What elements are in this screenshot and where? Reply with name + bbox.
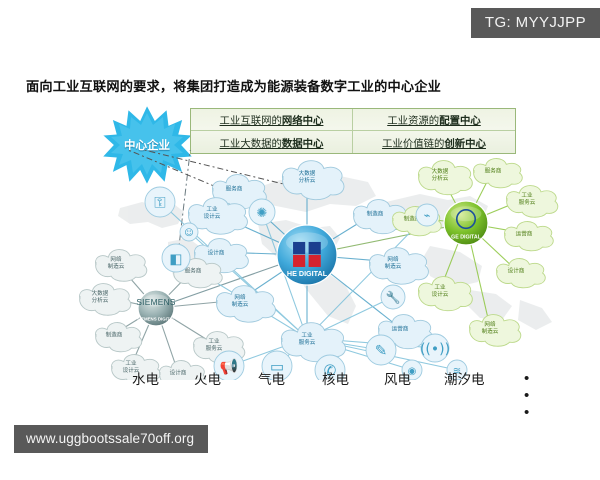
slide-canvas: TG: MYYJJPP 面向工业互联网的要求，将集团打造成为能源装备数字工业的中…: [0, 0, 600, 480]
cloud-node[interactable]: 网络制造云: [369, 248, 428, 285]
cloud-node[interactable]: 网络制造云: [96, 250, 147, 282]
person-icon[interactable]: ☺: [180, 223, 198, 241]
svg-text:网络: 网络: [484, 320, 496, 328]
svg-text:工业: 工业: [301, 331, 313, 339]
svg-text:大数据: 大数据: [299, 169, 316, 177]
svg-text:服务云: 服务云: [299, 338, 316, 346]
svg-text:工业: 工业: [206, 205, 218, 213]
info-cell-resource-center: 工业资源的配置中心: [353, 109, 515, 131]
svg-text:⚿: ⚿: [154, 194, 165, 212]
svg-text:HE DIGITAL: HE DIGITAL: [287, 269, 328, 278]
hub-ge[interactable]: GE DIGITAL: [444, 201, 488, 245]
svg-text:分析云: 分析云: [432, 174, 449, 182]
industrial-internet-network-diagram: 服务商大数据分析云制造商工业设计云设计商网络制造云网络制造云运营商工业服务云网络…: [0, 150, 600, 380]
energy-type-label-row: 水电火电气电核电风电潮汐电• • •: [132, 368, 532, 390]
info-cell-prefix: 工业大数据的: [220, 139, 282, 150]
broadcast-icon[interactable]: ((•)): [420, 334, 450, 362]
wrench-icon[interactable]: 🔧: [381, 285, 405, 309]
svg-text:网络: 网络: [234, 293, 246, 301]
four-centers-box: 工业互联网的网络中心 工业资源的配置中心 工业大数据的数据中心 工业价值链的创新…: [190, 108, 516, 154]
cloud-node[interactable]: 运营商: [505, 222, 554, 251]
page-title: 面向工业互联网的要求，将集团打造成为能源装备数字工业的中心企业: [26, 76, 441, 95]
svg-text:服务商: 服务商: [485, 166, 502, 174]
svg-text:制造商: 制造商: [367, 209, 384, 217]
energy-label-4: 风电: [384, 368, 411, 388]
svg-text:制造云: 制造云: [385, 262, 402, 270]
svg-text:制造商: 制造商: [106, 330, 123, 338]
cloud-node[interactable]: 大数据分析云: [80, 284, 131, 316]
svg-text:GE DIGITAL: GE DIGITAL: [451, 234, 482, 240]
svg-text:大数据: 大数据: [92, 289, 109, 297]
svg-text:分析云: 分析云: [299, 176, 316, 184]
info-cell-prefix: 工业互联网的: [220, 116, 282, 127]
info-cell-emphasis: 配置中心: [439, 116, 481, 127]
cloud-node[interactable]: 制造商: [96, 323, 142, 352]
svg-text:运营商: 运营商: [392, 324, 409, 332]
svg-text:☺: ☺: [184, 227, 193, 238]
cloud-node[interactable]: 网络制造云: [470, 315, 521, 347]
svg-text:服务商: 服务商: [226, 184, 243, 192]
hub-siemens[interactable]: SIEMENSSIEMENS DIGITAL: [136, 290, 175, 326]
cloud-node[interactable]: 工业服务云: [507, 186, 558, 218]
svg-text:网络: 网络: [110, 255, 122, 263]
energy-label-1: 火电: [194, 368, 221, 388]
svg-text:🔧: 🔧: [386, 290, 401, 305]
energy-label-0: 水电: [132, 368, 159, 388]
hub-he[interactable]: HE DIGITAL: [277, 225, 337, 285]
cloud-node[interactable]: 服务商: [474, 159, 523, 188]
svg-text:设计商: 设计商: [208, 248, 225, 256]
svg-text:分析云: 分析云: [92, 296, 109, 304]
svg-text:工业: 工业: [125, 359, 137, 367]
svg-text:设计云: 设计云: [432, 290, 449, 298]
energy-label-5: 潮汐电: [444, 368, 485, 388]
svg-text:((•)): ((•)): [420, 341, 450, 357]
svg-text:制造云: 制造云: [482, 327, 499, 335]
svg-text:⌁: ⌁: [424, 209, 431, 222]
energy-label-3: 核电: [322, 368, 349, 388]
svg-text:✎: ✎: [375, 342, 388, 360]
info-cell-prefix: 工业价值链的: [382, 139, 444, 150]
svg-text:工业: 工业: [521, 191, 533, 199]
svg-text:制造云: 制造云: [108, 262, 125, 270]
svg-text:服务云: 服务云: [519, 198, 536, 206]
gear-icon[interactable]: ✺: [249, 199, 275, 225]
svg-text:运营商: 运营商: [516, 229, 533, 237]
cloud-node[interactable]: 网络制造云: [216, 286, 275, 323]
lock-icon[interactable]: ⚿: [145, 187, 175, 217]
cloud-node[interactable]: 大数据分析云: [418, 161, 472, 195]
info-cell-emphasis: 创新中心: [444, 139, 486, 150]
svg-text:服务云: 服务云: [206, 344, 223, 352]
svg-text:✺: ✺: [257, 206, 268, 221]
svg-text:大数据: 大数据: [432, 167, 449, 175]
info-cell-emphasis: 网络中心: [282, 116, 324, 127]
diagram-svg: 服务商大数据分析云制造商工业设计云设计商网络制造云网络制造云运营商工业服务云网络…: [0, 150, 600, 380]
svg-text:SIEMENS DIGITAL: SIEMENS DIGITAL: [137, 317, 176, 322]
svg-text:设计商: 设计商: [508, 266, 525, 274]
info-cell-emphasis: 数据中心: [282, 139, 324, 150]
cube-icon[interactable]: ◧: [162, 244, 190, 272]
url-watermark-badge: www.uggbootssale70off.org: [14, 425, 208, 453]
svg-text:服务商: 服务商: [185, 266, 202, 274]
telegram-watermark-badge: TG: MYYJJPP: [471, 8, 600, 38]
svg-text:工业: 工业: [434, 283, 446, 291]
antenna-icon[interactable]: ⌁: [416, 204, 438, 226]
svg-text:◧: ◧: [169, 251, 182, 267]
energy-label-2: 气电: [258, 368, 285, 388]
info-cell-prefix: 工业资源的: [387, 116, 439, 127]
pen-icon[interactable]: ✎: [366, 335, 396, 365]
energy-label-6: • • •: [524, 370, 532, 421]
info-cell-network-center: 工业互联网的网络中心: [191, 109, 353, 131]
cloud-node[interactable]: 设计商: [497, 259, 546, 288]
svg-text:网络: 网络: [387, 255, 399, 263]
svg-text:SIEMENS: SIEMENS: [136, 298, 175, 307]
svg-text:制造云: 制造云: [232, 300, 249, 308]
svg-text:工业: 工业: [208, 337, 220, 345]
svg-text:设计云: 设计云: [204, 212, 221, 220]
